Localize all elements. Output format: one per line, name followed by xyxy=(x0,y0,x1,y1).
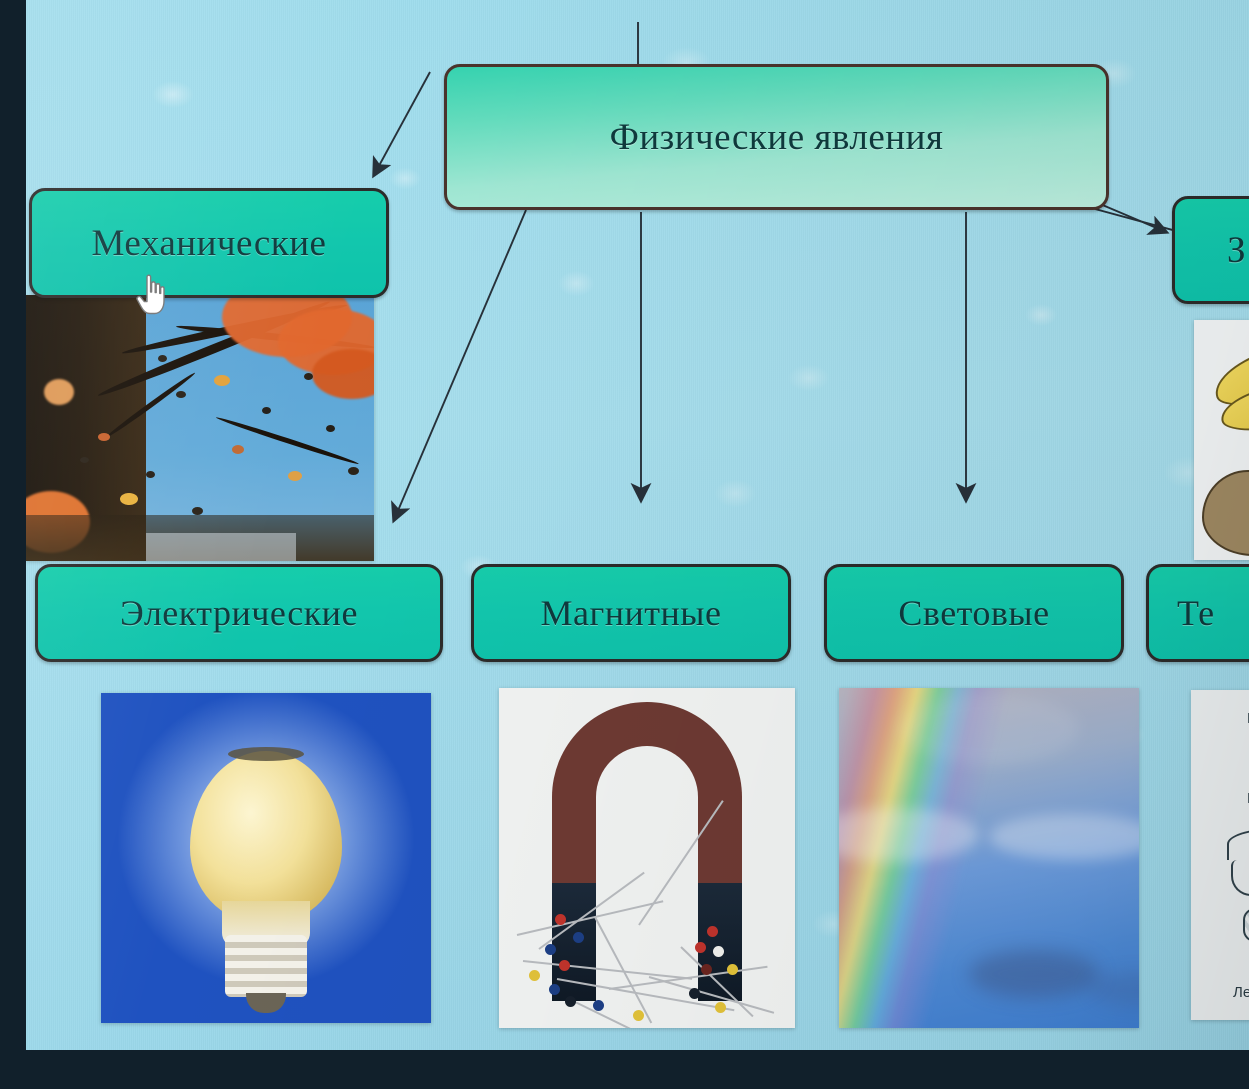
thermal-label-ice: Лед xyxy=(1233,984,1249,1001)
node-label-thermal: Те xyxy=(1177,592,1215,634)
photo-thermal-diagram: Па Во Лед xyxy=(1191,690,1249,1020)
node-magnetic[interactable]: Магнитные xyxy=(471,564,791,662)
pointing-hand-cursor xyxy=(134,272,168,316)
presentation-slide: Па Во Лед Физические явления Механически… xyxy=(26,0,1249,1050)
node-thermal[interactable]: Те xyxy=(1146,564,1249,662)
node-electrical[interactable]: Электрические xyxy=(35,564,443,662)
photo-rainbow xyxy=(839,688,1139,1028)
node-light[interactable]: Световые xyxy=(824,564,1124,662)
node-label-magnetic: Магнитные xyxy=(541,592,722,634)
wire-to-electrical xyxy=(394,210,526,520)
node-sound[interactable]: З xyxy=(1172,196,1249,304)
node-label-electrical: Электрические xyxy=(120,592,358,634)
photo-sound-illustration xyxy=(1194,320,1249,560)
node-label-light: Световые xyxy=(898,592,1049,634)
photo-autumn-tree xyxy=(26,295,374,561)
node-label-sound: З xyxy=(1227,229,1246,272)
photo-light-bulb xyxy=(101,693,431,1023)
node-physical-phenomena[interactable]: Физические явления xyxy=(444,64,1109,210)
screenshot-root: Па Во Лед Физические явления Механически… xyxy=(0,0,1249,1089)
wire-to-mechanical xyxy=(374,72,430,175)
node-label-title: Физические явления xyxy=(610,116,944,159)
photo-horseshoe-magnet xyxy=(499,688,795,1028)
node-label-mechanical: Механические xyxy=(92,222,327,265)
node-mechanical[interactable]: Механические xyxy=(29,188,389,298)
